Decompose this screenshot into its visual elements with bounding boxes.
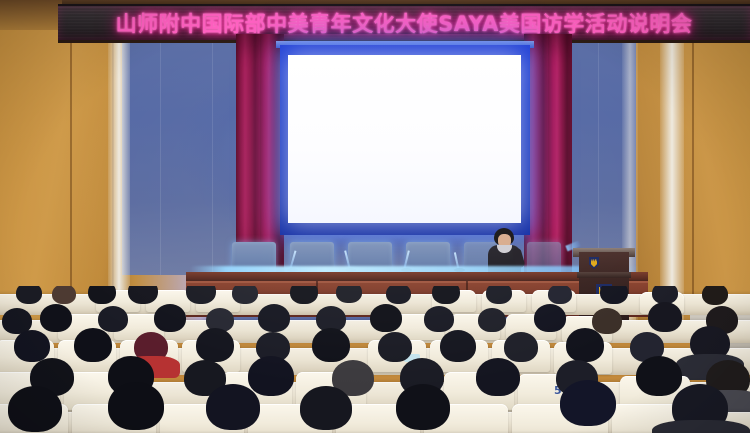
audience-head <box>74 328 112 362</box>
audience-head <box>478 308 506 332</box>
audience-head <box>206 384 260 430</box>
audience-head <box>648 302 682 332</box>
audience-head <box>248 356 294 396</box>
audience-head <box>566 328 604 362</box>
audience-head <box>386 286 411 304</box>
audience-head <box>52 286 76 304</box>
audience-head <box>196 328 234 362</box>
audience-head <box>336 286 362 303</box>
podium-ledge <box>577 272 631 278</box>
audience-head <box>476 358 520 396</box>
audience-head <box>424 306 454 332</box>
audience-head <box>440 330 476 362</box>
audience-shoulders <box>652 420 750 433</box>
audience-area: 5排 6排 <box>0 286 750 433</box>
audience-head <box>154 304 186 332</box>
auditorium-photo: 山师附中国际部中美青年文化大使SAYA美国访学活动说明会 <box>0 0 750 433</box>
audience-head <box>300 386 352 430</box>
audience-head <box>486 286 512 304</box>
ceiling-soffit <box>0 0 62 30</box>
audience-head <box>370 304 402 332</box>
audience-head <box>40 304 72 332</box>
audience-head <box>600 286 628 304</box>
audience-head <box>98 306 128 332</box>
audience-head <box>702 286 728 305</box>
audience-head <box>636 356 682 396</box>
audience-head <box>534 304 566 332</box>
audience-head <box>548 286 572 304</box>
audience-head <box>8 386 62 432</box>
audience-head <box>108 382 164 430</box>
audience-head <box>258 304 290 332</box>
audience-head <box>16 286 42 304</box>
audience-head <box>592 308 622 334</box>
left-pillar <box>108 26 130 326</box>
audience-head <box>14 330 50 362</box>
audience-head <box>88 286 116 304</box>
projection-screen-surface <box>288 55 521 223</box>
audience-head <box>560 380 616 426</box>
audience-head <box>312 328 350 362</box>
audience-head <box>378 332 412 362</box>
audience-head <box>232 286 258 304</box>
audience-head <box>290 286 318 304</box>
projection-screen <box>280 45 530 235</box>
audience-head <box>396 384 450 430</box>
audience-head <box>432 286 460 304</box>
audience-head <box>504 332 538 362</box>
